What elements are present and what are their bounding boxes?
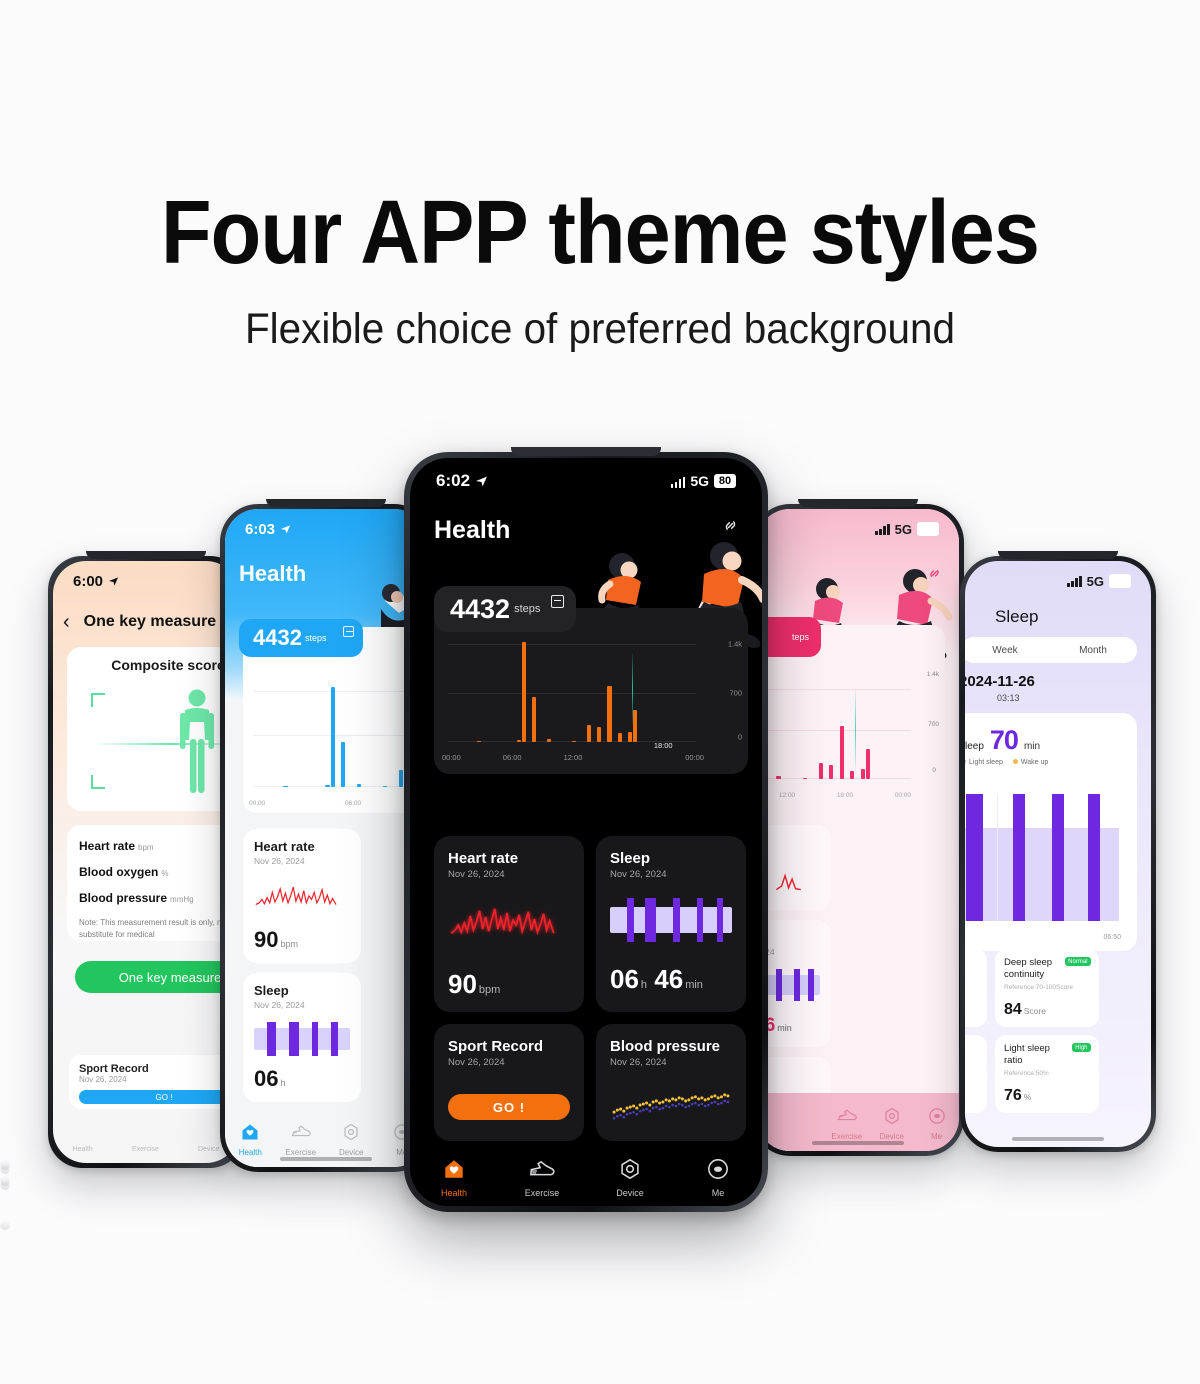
tab-label: Device bbox=[586, 1188, 674, 1198]
tab-label: Exercise bbox=[498, 1188, 586, 1198]
phone-sleep-purple[interactable]: 5G 81 Sleep Week Month 2024-11-26 03:13 … bbox=[960, 556, 1156, 1152]
chart-bar bbox=[547, 739, 551, 742]
tab-exercise-label[interactable]: Exercise bbox=[132, 1146, 159, 1153]
tab-label: Health bbox=[410, 1188, 498, 1198]
x-tick: 12:00 bbox=[779, 792, 795, 799]
card-value: 06h bbox=[254, 1066, 350, 1092]
composite-score-card[interactable]: Composite score bbox=[67, 647, 239, 811]
running-shoe-icon bbox=[291, 1123, 311, 1141]
chart-bar bbox=[341, 742, 345, 787]
status-bar: 6:00 bbox=[53, 561, 239, 601]
value-number: 90 bbox=[254, 927, 278, 952]
go-button[interactable]: GO ! bbox=[79, 1090, 239, 1104]
x-tick: 00:00 bbox=[895, 792, 911, 799]
scatter-point-systolic bbox=[671, 1097, 674, 1100]
kpi-unit: min bbox=[1024, 741, 1040, 752]
card-row: Normal Light sleep ratio Reference:50% 7… bbox=[965, 1035, 1137, 1113]
tab-device[interactable]: Device bbox=[326, 1123, 377, 1157]
heart-rate-sparkline bbox=[254, 878, 350, 912]
tab-label: Exercise bbox=[824, 1132, 869, 1141]
card-partial-left[interactable]: Normal bbox=[965, 1035, 987, 1113]
value-hour-unit: h bbox=[641, 979, 647, 991]
chart-bar bbox=[572, 741, 576, 742]
scatter-point-diastolic bbox=[629, 1112, 632, 1115]
card-date: Nov 26, 2024 bbox=[448, 1057, 570, 1068]
card-title: Sleep bbox=[254, 983, 350, 998]
value-unit: Score bbox=[1024, 1006, 1046, 1016]
navigation-arrow-icon bbox=[280, 524, 291, 535]
tab-label: Me bbox=[914, 1132, 959, 1141]
go-button[interactable]: GO ! bbox=[448, 1094, 570, 1120]
scatter-point-diastolic bbox=[694, 1102, 697, 1105]
scatter-point-systolic bbox=[704, 1098, 707, 1101]
now-marker-label: 18:00 bbox=[654, 741, 673, 750]
tab-health[interactable]: Health bbox=[225, 1123, 276, 1157]
scatter-point-systolic bbox=[668, 1099, 671, 1102]
tab-label: Device bbox=[326, 1148, 377, 1157]
phone-health-dark[interactable]: 6:02 5G 80 Health bbox=[404, 452, 768, 1212]
scatter-point-systolic bbox=[622, 1110, 625, 1113]
chart-bar bbox=[517, 740, 521, 742]
scan-corner-icon bbox=[91, 775, 105, 789]
scatter-point-systolic bbox=[694, 1095, 697, 1098]
card-title: Deep sleep continuity bbox=[1004, 957, 1070, 981]
steps-unit: teps bbox=[792, 632, 809, 642]
scatter-point-systolic bbox=[661, 1100, 664, 1103]
steps-summary-pill[interactable]: 4432 steps bbox=[434, 586, 576, 632]
scatter-point-systolic bbox=[723, 1093, 726, 1096]
chart-bar bbox=[866, 749, 870, 779]
card-partial-left[interactable]: Normal bbox=[965, 949, 987, 1027]
scatter-point-systolic bbox=[720, 1095, 723, 1098]
card-title: Sport Record bbox=[79, 1063, 239, 1075]
scatter-point-systolic bbox=[655, 1099, 658, 1102]
tab-device[interactable]: Device bbox=[869, 1107, 914, 1141]
metric-card-list: Sport Record Nov 26, 2024 GO ! bbox=[69, 1055, 239, 1117]
heart-rate-sparkline bbox=[448, 898, 570, 942]
network-type: 5G bbox=[690, 473, 709, 489]
scatter-point-systolic bbox=[665, 1098, 668, 1101]
tab-me[interactable]: Me bbox=[674, 1158, 762, 1198]
scatter-point-diastolic bbox=[723, 1100, 726, 1103]
tab-exercise[interactable]: Exercise bbox=[498, 1159, 586, 1198]
metric-card-grid: Heart rate Nov 26, 2024 90bpm Sleep Nov … bbox=[434, 836, 748, 1141]
period-segmented-control[interactable]: Week Month bbox=[965, 637, 1137, 663]
legend-item-wake-up: Wake up bbox=[1013, 759, 1048, 766]
card-value: 90bpm bbox=[254, 927, 350, 953]
signal-bars-icon bbox=[875, 524, 890, 535]
x-tick: 00:00 bbox=[249, 800, 265, 807]
scatter-point-diastolic bbox=[681, 1104, 684, 1107]
legend-swatch bbox=[965, 759, 966, 764]
phone-reflection: 6:00 ‹ One key measure Composite score bbox=[0, 1176, 10, 1186]
scatter-point-diastolic bbox=[704, 1105, 707, 1108]
status-time: 6:03 bbox=[245, 521, 275, 538]
scatter-point-systolic bbox=[639, 1103, 642, 1106]
scatter-point-systolic bbox=[700, 1096, 703, 1099]
chart-bar bbox=[283, 786, 287, 787]
segment-week[interactable]: Week bbox=[965, 645, 1049, 656]
y-tick: 1.4k bbox=[927, 671, 939, 678]
scatter-point-diastolic bbox=[658, 1108, 661, 1111]
steps-value: 4432 bbox=[253, 625, 302, 651]
scatter-point-diastolic bbox=[642, 1109, 645, 1112]
chart-x-axis: 06:00 12:00 18:00 00:00 bbox=[757, 792, 911, 799]
scatter-point-systolic bbox=[645, 1101, 648, 1104]
chart-bars bbox=[257, 683, 427, 787]
scatter-point-systolic bbox=[697, 1097, 700, 1100]
list-item[interactable]: Sport Record Nov 26, 2024 GO ! bbox=[69, 1055, 239, 1109]
phone-one-key-measure[interactable]: 6:00 ‹ One key measure Composite score bbox=[48, 556, 244, 1168]
phone-health-pink[interactable]: 5G 80 bbox=[752, 504, 964, 1156]
chart-bar bbox=[383, 786, 387, 787]
card-title: Heart rate bbox=[254, 839, 350, 854]
card-date: Nov 26, 2024 bbox=[610, 869, 732, 880]
phone-notch bbox=[998, 551, 1118, 559]
scatter-point-diastolic bbox=[691, 1103, 694, 1106]
vital-name: Blood oxygen bbox=[79, 865, 158, 879]
chart-bar bbox=[399, 770, 403, 787]
value-minutes: 46 bbox=[654, 964, 683, 994]
scatter-point-diastolic bbox=[717, 1103, 720, 1106]
scatter-point-diastolic bbox=[626, 1113, 629, 1116]
scatter-point-diastolic bbox=[678, 1103, 681, 1106]
scatter-point-diastolic bbox=[616, 1115, 619, 1118]
card-sleep[interactable]: Sleep Nov 26, 2024 06h bbox=[243, 973, 361, 1102]
phone-notch bbox=[0, 1167, 65, 1175]
steps-unit: steps bbox=[305, 633, 327, 643]
phone-showcase-stage: 6:02 5G 80 Health bbox=[0, 0, 1200, 1384]
chart-bar bbox=[357, 784, 361, 787]
selected-time: 03:13 bbox=[997, 693, 1020, 703]
card-heart-rate-partial[interactable] bbox=[757, 825, 831, 910]
scatter-point-systolic bbox=[710, 1095, 713, 1098]
card-blood-pressure[interactable]: Blood pressure Nov 26, 2024 bbox=[596, 1024, 746, 1141]
steps-bar-chart bbox=[253, 683, 427, 787]
scatter-point-systolic bbox=[613, 1111, 616, 1114]
scatter-point-diastolic bbox=[665, 1105, 668, 1108]
bottom-fade bbox=[0, 1328, 1200, 1384]
chart-x-axis: 00:00 06:00 12:00 bbox=[249, 800, 427, 807]
sleep-stage-chart bbox=[965, 783, 1119, 925]
y-tick: 1.4k bbox=[728, 640, 742, 649]
vitals-card: Heart ratebpm Blood oxygen% Blood pressu… bbox=[67, 825, 239, 941]
legend-label: Wake up bbox=[1021, 759, 1048, 766]
vital-name: Heart rate bbox=[79, 839, 135, 853]
vital-name: Blood pressure bbox=[79, 891, 167, 905]
x-tick: 18:00 bbox=[837, 792, 853, 799]
scatter-point-diastolic bbox=[652, 1107, 655, 1110]
phone-reflection: 5G 81 Sleep Week Month 2024-11-26 03:13 … bbox=[0, 1160, 10, 1170]
export-icon[interactable] bbox=[551, 595, 564, 608]
chart-bar bbox=[587, 725, 591, 742]
scatter-point-systolic bbox=[713, 1094, 716, 1097]
battery-indicator: 80 bbox=[714, 474, 736, 488]
card-title: Sleep bbox=[610, 850, 732, 867]
value-hours: 06 bbox=[610, 964, 639, 994]
steps-chart-card[interactable]: 1.4k 700 0 18:00 00:00 06:00 12:00 18:00… bbox=[434, 608, 748, 774]
vital-row-blood-pressure: Blood pressuremmHg bbox=[79, 891, 239, 905]
scatter-point-diastolic bbox=[720, 1102, 723, 1105]
chart-legend: Light sleep Wake up bbox=[965, 759, 1048, 766]
legend-swatch bbox=[1013, 759, 1018, 764]
kpi-label: leep bbox=[965, 741, 984, 752]
chart-bar bbox=[861, 769, 865, 779]
card-value: 90bpm bbox=[448, 969, 570, 1000]
tab-health[interactable]: Health bbox=[410, 1158, 498, 1198]
x-tick: 00:00 bbox=[685, 753, 704, 762]
scatter-point-systolic bbox=[717, 1096, 720, 1099]
sleep-stage-chart bbox=[610, 898, 732, 942]
value-minute-unit: min bbox=[685, 979, 703, 991]
chart-bar bbox=[850, 771, 854, 779]
chart-bar bbox=[618, 733, 622, 742]
running-shoe-icon bbox=[529, 1159, 555, 1180]
scatter-point-diastolic bbox=[662, 1107, 665, 1110]
human-body-figure-icon bbox=[175, 689, 219, 797]
y-tick: 700 bbox=[729, 689, 742, 698]
value-unit: bpm bbox=[280, 939, 298, 949]
chart-x-axis: 00:00 06:00 12:00 18:00 00:00 bbox=[442, 753, 704, 762]
chart-bars bbox=[452, 638, 692, 742]
tab-bar[interactable]: Health Exercise Device Me bbox=[410, 1144, 762, 1206]
sleep-metric-cards: Normal Deep sleep continuity Reference:7… bbox=[965, 949, 1137, 1113]
phone-notch bbox=[798, 499, 918, 507]
sleep-detail-card[interactable]: leep 70 min Light sleep Wake up 06:50 bbox=[965, 713, 1137, 951]
scatter-point-systolic bbox=[626, 1107, 629, 1110]
profile-icon bbox=[928, 1107, 946, 1125]
chart-bar bbox=[776, 776, 780, 779]
phone-notch bbox=[86, 551, 206, 559]
export-icon[interactable] bbox=[343, 626, 354, 637]
scatter-point-systolic bbox=[652, 1100, 655, 1103]
tab-me[interactable]: Me bbox=[914, 1107, 959, 1141]
chart-bar bbox=[522, 642, 526, 742]
value-number: 76 bbox=[1004, 1087, 1022, 1104]
scatter-point-diastolic bbox=[623, 1116, 626, 1119]
scatter-point-systolic bbox=[632, 1105, 635, 1108]
status-time: 6:02 bbox=[436, 471, 470, 491]
tab-label: Health bbox=[225, 1148, 276, 1157]
card-deep-sleep-continuity[interactable]: Deep sleep continuity Reference:70-100Sc… bbox=[995, 949, 1099, 1027]
scatter-point-systolic bbox=[635, 1107, 638, 1110]
scatter-point-diastolic bbox=[655, 1106, 658, 1109]
x-tick: 00:00 bbox=[442, 753, 461, 762]
card-reference: Reference:50% bbox=[1004, 1070, 1090, 1077]
vital-unit: % bbox=[161, 869, 168, 878]
measurement-disclaimer: Note: This measurement result is only, n… bbox=[79, 917, 239, 941]
now-marker-line bbox=[855, 685, 856, 775]
one-key-measure-button[interactable]: One key measure bbox=[75, 961, 239, 993]
value-number: 84 bbox=[1004, 1001, 1022, 1018]
x-tick: 06:00 bbox=[345, 800, 361, 807]
card-value: 84Score bbox=[1004, 1001, 1046, 1019]
tab-device[interactable]: Device bbox=[586, 1158, 674, 1198]
card-date: Nov 26, 2024 bbox=[254, 856, 350, 866]
sleep-stage-chart bbox=[254, 1022, 350, 1056]
network-type: 5G bbox=[895, 522, 912, 537]
phone-notch bbox=[0, 1226, 80, 1235]
signal-bars-icon bbox=[671, 475, 686, 488]
navigation-header: ‹ One key measure bbox=[53, 605, 239, 639]
y-tick: 700 bbox=[928, 721, 939, 728]
scatter-point-diastolic bbox=[636, 1113, 639, 1116]
navigation-arrow-icon bbox=[108, 576, 119, 587]
value-unit: bpm bbox=[479, 984, 500, 996]
tab-label: Me bbox=[674, 1188, 762, 1198]
scatter-point-diastolic bbox=[707, 1104, 710, 1107]
phone-notch bbox=[0, 1187, 65, 1195]
scatter-point-systolic bbox=[684, 1099, 687, 1102]
tab-exercise[interactable]: Exercise bbox=[824, 1107, 869, 1141]
chart-bar bbox=[819, 763, 823, 779]
card-light-sleep-ratio[interactable]: Light sleep ratio Reference:50% 76% High bbox=[995, 1035, 1099, 1113]
phone-reflection: 6:03 Health 00:00 06:00 12:00 bbox=[0, 1180, 10, 1190]
scatter-point-diastolic bbox=[675, 1105, 678, 1108]
phone-notch bbox=[0, 1183, 65, 1191]
link-icon[interactable] bbox=[721, 516, 740, 535]
card-date: Nov 26, 2024 bbox=[79, 1075, 239, 1084]
phone-notch bbox=[0, 1171, 65, 1179]
card-title: Light sleep ratio bbox=[1004, 1043, 1070, 1067]
home-indicator bbox=[280, 1157, 372, 1161]
phone-notch bbox=[266, 499, 386, 507]
scatter-point-systolic bbox=[616, 1109, 619, 1112]
card-date: Nov 26, 2024 bbox=[448, 869, 570, 880]
home-indicator bbox=[812, 1141, 904, 1145]
y-tick: 0 bbox=[738, 733, 742, 742]
scatter-point-diastolic bbox=[701, 1103, 704, 1106]
chart-bar bbox=[803, 778, 807, 779]
card-row: Normal Deep sleep continuity Reference:7… bbox=[965, 949, 1137, 1027]
segment-month[interactable]: Month bbox=[1049, 645, 1137, 656]
scatter-point-systolic bbox=[681, 1097, 684, 1100]
card-title: Sport Record bbox=[448, 1038, 570, 1055]
screen-title: Health bbox=[434, 516, 510, 545]
chart-bar bbox=[477, 741, 481, 742]
now-marker-line bbox=[632, 654, 634, 724]
phone-health-blue[interactable]: 6:03 Health 00:00 06:00 12:00 bbox=[220, 504, 432, 1172]
kpi-value: 70 bbox=[990, 725, 1018, 756]
scatter-point-diastolic bbox=[639, 1110, 642, 1113]
status-bar: 6:03 bbox=[225, 509, 427, 549]
chart-bar bbox=[607, 686, 611, 742]
scatter-point-diastolic bbox=[697, 1104, 700, 1107]
scatter-point-diastolic bbox=[671, 1104, 674, 1107]
status-bar: 5G 81 bbox=[965, 561, 1151, 601]
sleep-kpi: leep 70 min bbox=[965, 725, 1040, 756]
blood-pressure-scatter bbox=[610, 1084, 732, 1124]
scatter-point-systolic bbox=[678, 1096, 681, 1099]
card-sleep[interactable]: Sleep Nov 26, 2024 06h46min bbox=[757, 920, 831, 1047]
card-heart-rate[interactable]: Heart rate Nov 26, 2024 90bpm bbox=[243, 829, 361, 963]
screen-title: Sleep bbox=[995, 607, 1038, 627]
signal-bars-icon bbox=[1067, 576, 1082, 587]
card-date: Nov 26, 2024 bbox=[610, 1057, 732, 1068]
scatter-point-diastolic bbox=[668, 1106, 671, 1109]
phone-reflection: 6:02 5G 80 Health bbox=[0, 1220, 10, 1230]
screen-title: One key measure bbox=[84, 613, 217, 631]
legend-label: Light sleep bbox=[969, 759, 1003, 766]
scatter-point-diastolic bbox=[727, 1101, 730, 1104]
status-badge: Normal bbox=[1065, 957, 1091, 966]
scatter-point-systolic bbox=[658, 1101, 661, 1104]
steps-bar-chart bbox=[757, 681, 911, 779]
scatter-point-diastolic bbox=[714, 1101, 717, 1104]
tab-label: Exercise bbox=[276, 1148, 327, 1157]
tab-bar[interactable]: Health Exercise Device bbox=[53, 1146, 239, 1153]
scatter-point-diastolic bbox=[684, 1106, 687, 1109]
status-badge: High bbox=[1072, 1043, 1091, 1052]
tab-health-label[interactable]: Health bbox=[73, 1146, 93, 1153]
home-heart-icon bbox=[241, 1123, 259, 1141]
scatter-point-systolic bbox=[642, 1102, 645, 1105]
legend-item-light-sleep: Light sleep bbox=[965, 759, 1003, 766]
x-tick: 12:00 bbox=[564, 753, 583, 762]
tab-exercise[interactable]: Exercise bbox=[276, 1123, 327, 1157]
chart-bar bbox=[628, 732, 632, 742]
chart-bar bbox=[331, 687, 335, 787]
scatter-point-diastolic bbox=[710, 1102, 713, 1105]
running-shoe-icon bbox=[837, 1107, 857, 1125]
card-title: Heart rate bbox=[448, 850, 570, 867]
value-number: 06 bbox=[254, 1066, 278, 1091]
battery-indicator: 81 bbox=[1109, 574, 1131, 588]
value-minute-unit: min bbox=[777, 1023, 792, 1033]
network-type: 5G bbox=[1087, 574, 1104, 589]
vital-row-heart-rate: Heart ratebpm bbox=[79, 839, 239, 853]
scatter-point-systolic bbox=[648, 1103, 651, 1106]
composite-score-label: Composite score bbox=[67, 647, 239, 673]
navigation-arrow-icon bbox=[475, 475, 488, 488]
value-unit: h bbox=[280, 1078, 285, 1088]
scatter-point-systolic bbox=[674, 1098, 677, 1101]
device-watch-icon bbox=[883, 1107, 901, 1125]
back-button[interactable]: ‹ bbox=[63, 612, 70, 632]
card-heart-rate[interactable]: Heart rate Nov 26, 2024 90bpm bbox=[434, 836, 584, 1012]
tab-label: Device bbox=[869, 1132, 914, 1141]
scatter-point-systolic bbox=[619, 1108, 622, 1111]
card-sport-record[interactable]: Sport Record Nov 26, 2024 GO ! bbox=[434, 1024, 584, 1141]
scatter-point-systolic bbox=[707, 1097, 710, 1100]
steps-summary-pill[interactable]: 4432 steps bbox=[239, 619, 363, 657]
scatter-point-systolic bbox=[726, 1094, 729, 1097]
chart-bar bbox=[633, 710, 637, 742]
phone-notch bbox=[511, 447, 661, 456]
scatter-point-diastolic bbox=[632, 1111, 635, 1114]
profile-icon bbox=[707, 1158, 729, 1180]
card-sleep[interactable]: Sleep Nov 26, 2024 06h 46min bbox=[596, 836, 746, 1012]
vital-row-blood-oxygen: Blood oxygen% bbox=[79, 865, 239, 879]
chart-bar bbox=[597, 727, 601, 742]
chart-bar bbox=[532, 697, 536, 742]
scatter-point-systolic bbox=[629, 1106, 632, 1109]
steps-value: 4432 bbox=[450, 594, 510, 625]
tab-device-label[interactable]: Device bbox=[198, 1146, 219, 1153]
scatter-point-systolic bbox=[687, 1098, 690, 1101]
chart-x-label: 06:50 bbox=[1103, 934, 1121, 941]
chart-bars bbox=[757, 681, 907, 779]
steps-unit: steps bbox=[514, 603, 540, 615]
home-indicator bbox=[1012, 1137, 1104, 1141]
status-time: 6:00 bbox=[73, 573, 103, 590]
screen-title: Health bbox=[239, 561, 306, 587]
card-title: Blood pressure bbox=[610, 1038, 732, 1055]
card-value: 06h 46min bbox=[610, 964, 732, 995]
chart-bar bbox=[840, 726, 844, 779]
home-heart-icon bbox=[443, 1158, 465, 1180]
status-bar: 6:02 5G 80 bbox=[410, 458, 762, 504]
